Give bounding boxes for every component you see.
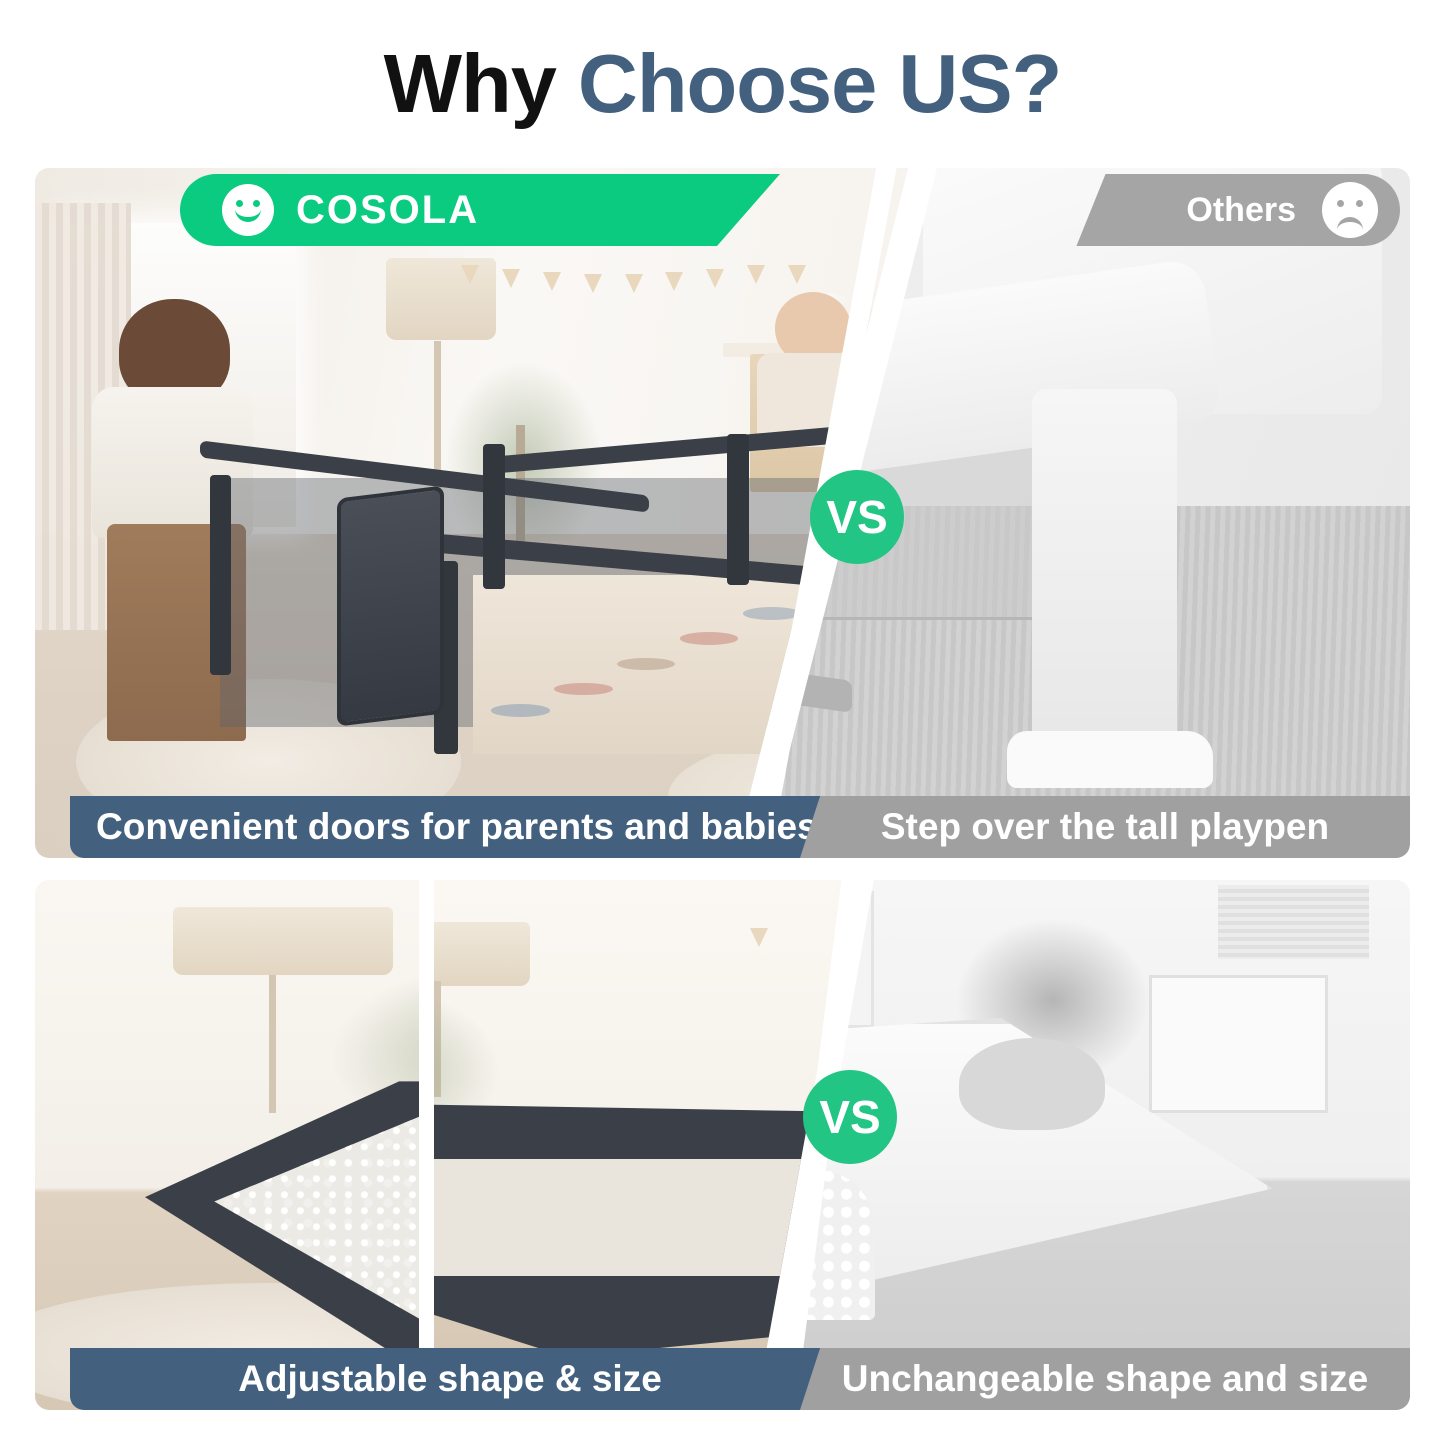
- sad-face-icon: [1322, 182, 1378, 238]
- playpen-door: [337, 486, 444, 727]
- cosola-badge: COSOLA: [180, 174, 780, 246]
- title-part-why: Why: [384, 37, 578, 130]
- macrame-wall-hanging: [1218, 885, 1369, 959]
- vs-badge-top: VS: [810, 470, 904, 564]
- top-right-caption: Step over the tall playpen: [800, 796, 1410, 858]
- bottom-left-caption: Adjustable shape & size: [70, 1348, 830, 1410]
- vertical-divider-bottom: [419, 880, 434, 1410]
- smiley-face-icon: [222, 184, 274, 236]
- top-comparison-panel: COSOLA Others Convenient doors for paren…: [35, 168, 1410, 858]
- page-title: Why Choose US?: [0, 0, 1445, 150]
- child-in-pen: [959, 1038, 1105, 1130]
- bottom-comparison-panel: Adjustable shape & size Unchangeable sha…: [35, 880, 1410, 1410]
- top-left-caption: Convenient doors for parents and babies: [70, 796, 830, 858]
- bottom-right-caption: Unchangeable shape and size: [800, 1348, 1410, 1410]
- title-part-choose-us: Choose US?: [578, 37, 1061, 130]
- others-badge: Others: [1076, 174, 1400, 246]
- cosola-badge-label: COSOLA: [296, 188, 479, 233]
- others-badge-label: Others: [1186, 191, 1296, 230]
- vs-badge-bottom: VS: [803, 1070, 897, 1164]
